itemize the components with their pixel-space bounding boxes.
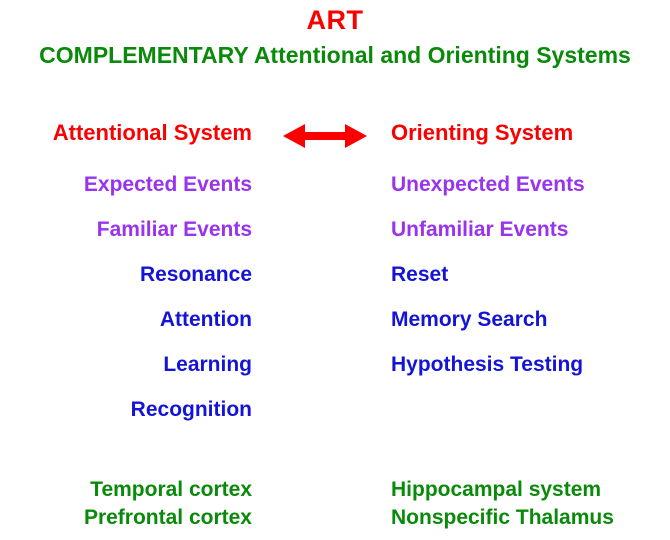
systems-header-row: Attentional System Orienting System (0, 118, 670, 170)
pair-row: Resonance Reset (0, 260, 670, 305)
pair-right-label: Unfamiliar Events (391, 215, 568, 245)
anatomy-right-label: Nonspecific Thalamus (391, 504, 614, 532)
pair-left-label: Learning (163, 350, 252, 380)
pair-right-label: Memory Search (391, 305, 547, 335)
pair-left-label: Expected Events (84, 170, 252, 200)
page-title: ART (0, 4, 670, 36)
page-subtitle: COMPLEMENTARY Attentional and Orienting … (0, 41, 670, 69)
pair-left-label: Resonance (140, 260, 252, 290)
anatomy-left-label: Temporal cortex (90, 476, 252, 504)
pair-row: Recognition (0, 395, 670, 440)
orienting-system-heading: Orienting System (391, 118, 573, 148)
pair-right-label: Unexpected Events (391, 170, 585, 200)
anatomy-block: Temporal cortex Hippocampal system Prefr… (0, 476, 670, 532)
anatomy-row: Prefrontal cortex Nonspecific Thalamus (0, 504, 670, 532)
double-headed-arrow-icon (283, 122, 367, 150)
pair-left-label: Recognition (131, 395, 252, 425)
systems-columns: Attentional System Orienting System Expe… (0, 118, 670, 440)
pair-row: Attention Memory Search (0, 305, 670, 350)
pair-row: Learning Hypothesis Testing (0, 350, 670, 395)
pair-left-label: Familiar Events (97, 215, 252, 245)
pair-row: Expected Events Unexpected Events (0, 170, 670, 215)
anatomy-left-label: Prefrontal cortex (84, 504, 252, 532)
attentional-system-heading: Attentional System (53, 118, 252, 148)
pair-right-label: Reset (391, 260, 448, 290)
pair-right-label: Hypothesis Testing (391, 350, 583, 380)
anatomy-right-label: Hippocampal system (391, 476, 601, 504)
pair-left-label: Attention (160, 305, 252, 335)
art-complementary-systems-slide: ART COMPLEMENTARY Attentional and Orient… (0, 0, 670, 540)
anatomy-row: Temporal cortex Hippocampal system (0, 476, 670, 504)
pair-row: Familiar Events Unfamiliar Events (0, 215, 670, 260)
